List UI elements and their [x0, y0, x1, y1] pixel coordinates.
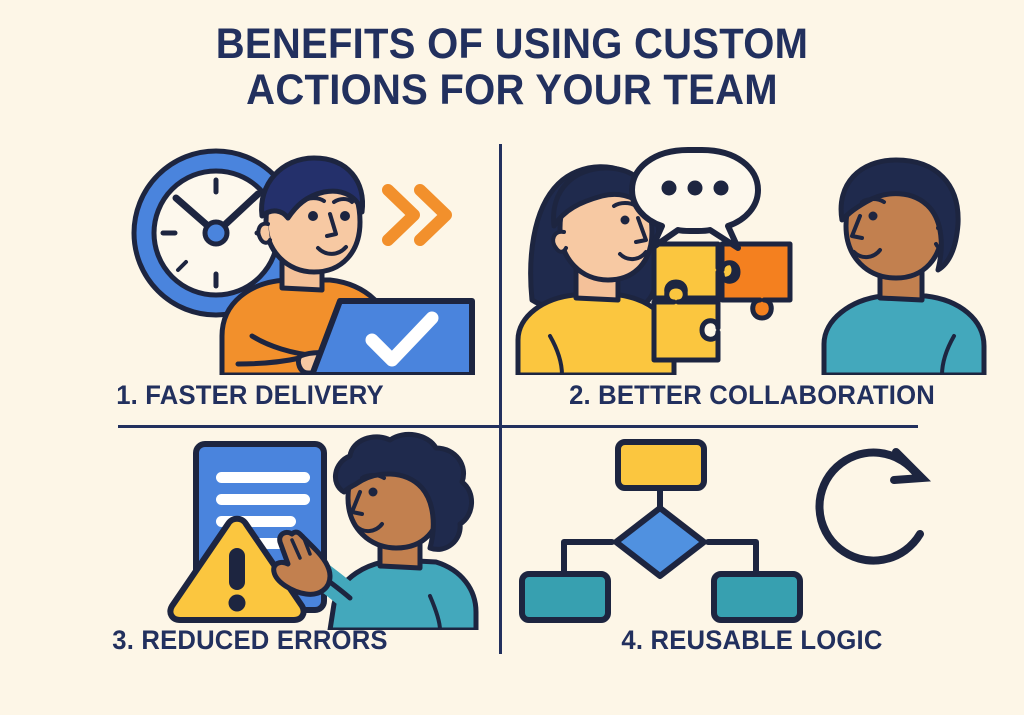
double-chevron-icon	[388, 190, 446, 240]
refresh-loop-icon	[819, 452, 922, 561]
puzzle-pieces-icon	[654, 244, 790, 360]
quadrant-better-collaboration: 2. BETTER COLLABORATION	[502, 140, 1002, 425]
better-collaboration-illustration	[502, 140, 1002, 375]
quadrant-label-2: 2. BETTER COLLABORATION	[515, 380, 990, 411]
quadrant-label-4: 4. REUSABLE LOGIC	[515, 625, 990, 656]
quadrant-label-3: 3. REDUCED ERRORS	[13, 625, 488, 656]
page-title: BENEFITS OF USING CUSTOM ACTIONS FOR YOU…	[0, 22, 1024, 113]
infographic-poster: BENEFITS OF USING CUSTOM ACTIONS FOR YOU…	[0, 0, 1024, 683]
quadrant-reduced-errors: 3. REDUCED ERRORS	[0, 430, 500, 715]
quadrant-label-1: 1. FASTER DELIVERY	[13, 380, 488, 411]
quadrant-faster-delivery: 1. FASTER DELIVERY	[0, 140, 500, 425]
man-icon	[824, 160, 984, 375]
faster-delivery-illustration	[0, 140, 500, 375]
flowchart-icon	[522, 442, 800, 620]
horizontal-divider	[118, 425, 918, 428]
title-line-2: ACTIONS FOR YOUR TEAM	[36, 68, 988, 114]
quadrant-reusable-logic: 4. REUSABLE LOGIC	[502, 430, 1002, 715]
title-line-1: BENEFITS OF USING CUSTOM	[36, 22, 988, 68]
laptop-icon	[312, 301, 472, 375]
